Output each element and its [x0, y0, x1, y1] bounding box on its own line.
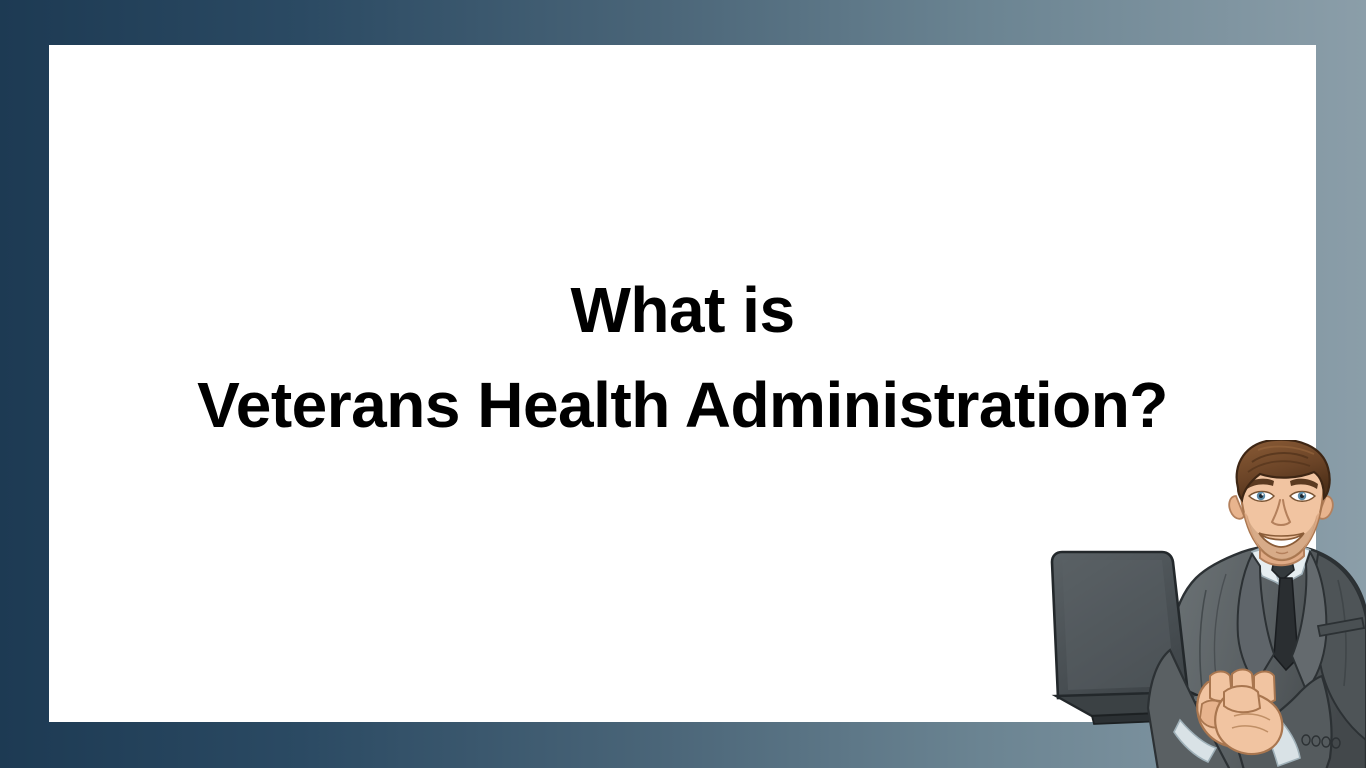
illustration-figure	[1052, 440, 1366, 768]
businessman-illustration	[1030, 440, 1366, 768]
presentation-slide: What is Veterans Health Administration?	[0, 0, 1366, 768]
head	[1229, 440, 1333, 560]
